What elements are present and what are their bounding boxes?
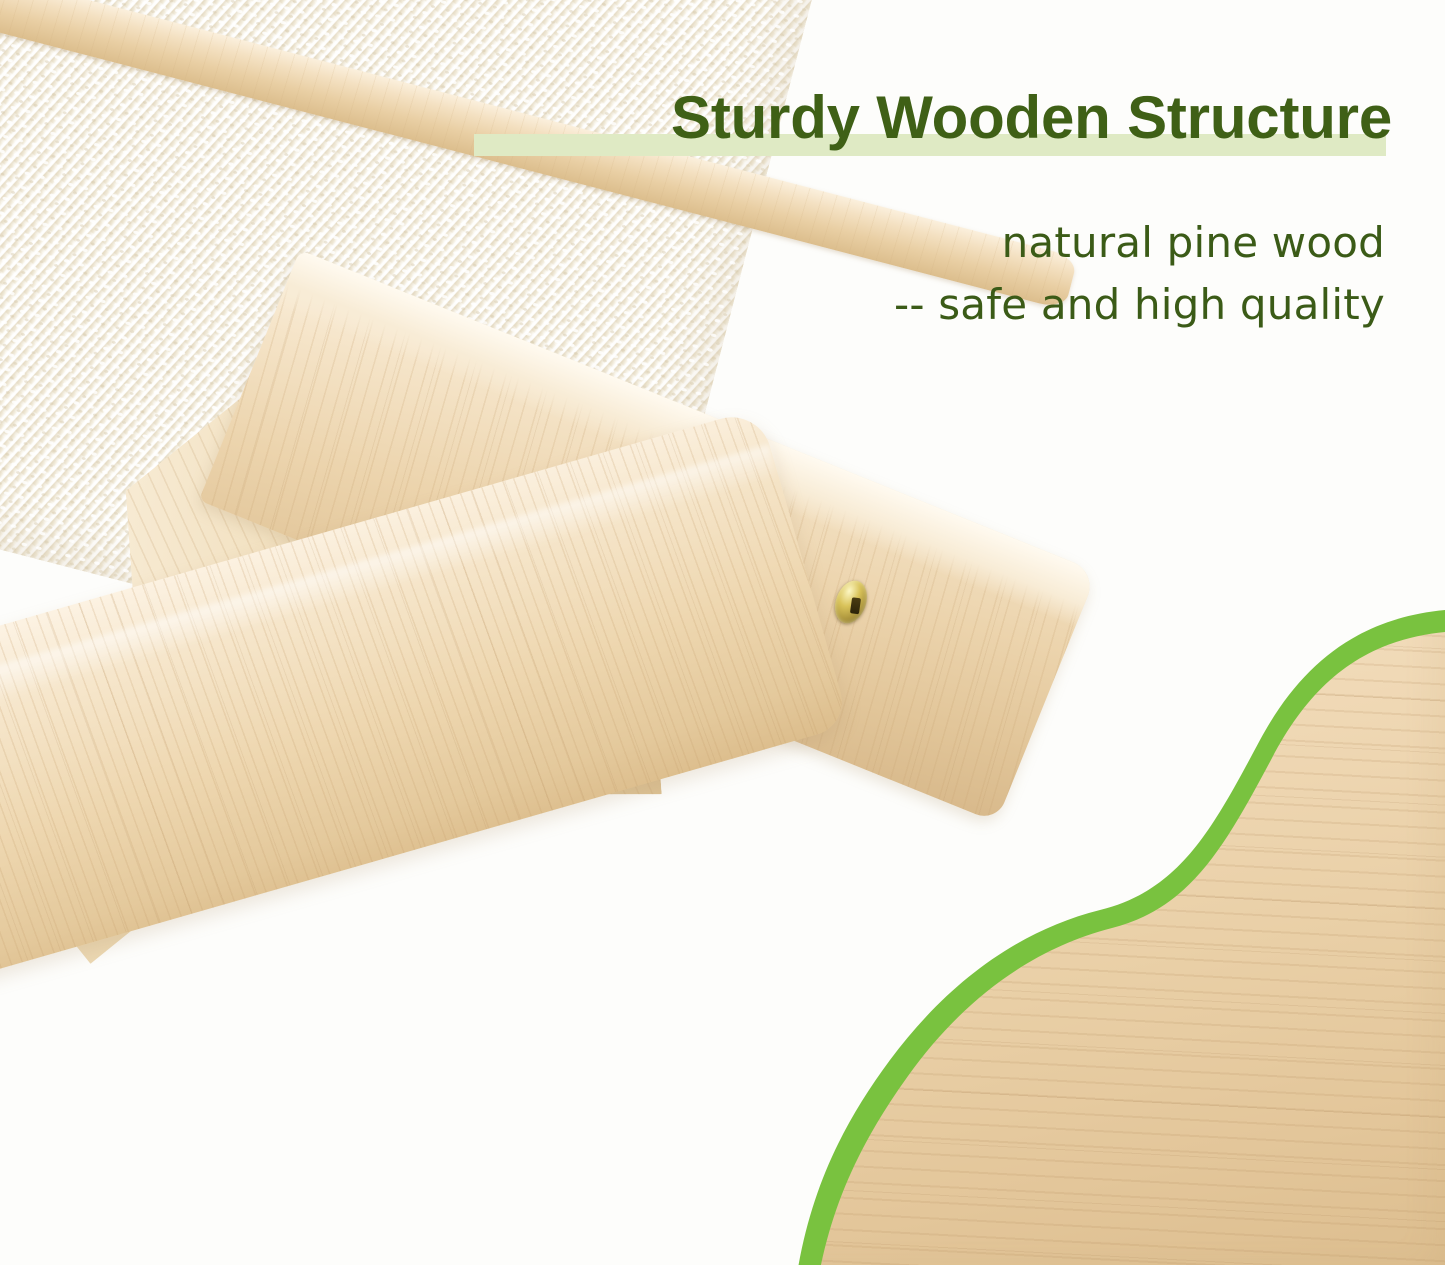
headline-block: Sturdy Wooden Structure xyxy=(462,78,1392,160)
page-title: Sturdy Wooden Structure xyxy=(462,78,1392,158)
subtitle-line-2: -- safe and high quality xyxy=(620,274,1385,336)
pine-board-photo xyxy=(560,590,1445,1265)
subtitle-line-1: natural pine wood xyxy=(620,212,1385,274)
subtitle-block: natural pine wood -- safe and high quali… xyxy=(620,212,1385,336)
product-banner: Sturdy Wooden Structure natural pine woo… xyxy=(0,0,1445,1265)
